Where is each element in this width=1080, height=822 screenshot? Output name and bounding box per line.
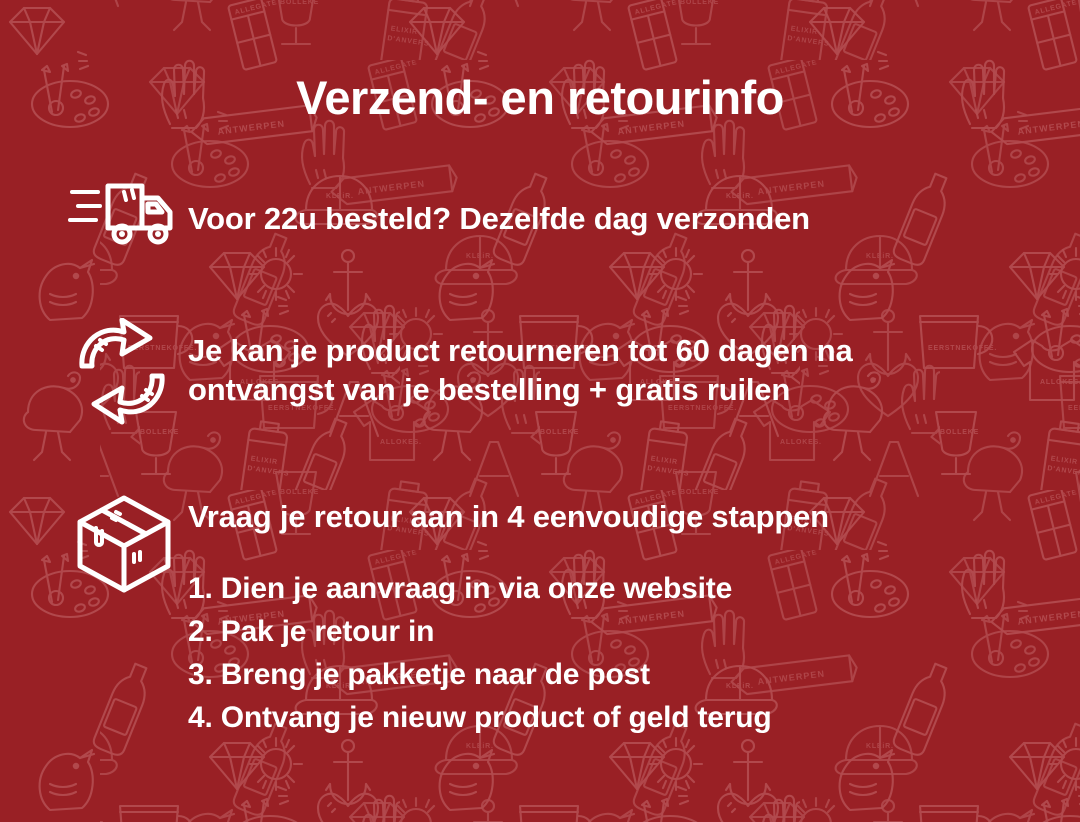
returns-info-line-2: ontvangst van je bestelling + gratis rui… xyxy=(188,371,853,410)
return-step-item: 1. Dien je aanvraag in via onze website xyxy=(188,567,829,610)
return-steps-heading: Vraag je retour aan in 4 eenvoudige stap… xyxy=(188,490,829,537)
return-step-item: 4. Ontvang je nieuw product of geld teru… xyxy=(188,696,829,739)
package-box-icon xyxy=(60,490,188,594)
shipping-returns-info-banner: ALLEGATE ANTWERPEN xyxy=(0,0,1080,822)
return-steps-text-block: Vraag je retour aan in 4 eenvoudige stap… xyxy=(188,490,829,740)
return-step-item: 2. Pak je retour in xyxy=(188,610,829,653)
return-exchange-arrows-icon xyxy=(60,318,188,428)
returns-info-row: Je kan je product retourneren tot 60 dag… xyxy=(60,318,853,428)
shipping-info-row: Voor 22u besteld? Dezelfde dag verzonden xyxy=(60,176,810,248)
shipping-info-text: Voor 22u besteld? Dezelfde dag verzonden xyxy=(188,176,810,239)
return-steps-row: Vraag je retour aan in 4 eenvoudige stap… xyxy=(60,490,829,740)
return-steps-list: 1. Dien je aanvraag in via onze website … xyxy=(188,537,829,740)
returns-info-line-1: Je kan je product retourneren tot 60 dag… xyxy=(188,318,853,371)
returns-info-text-block: Je kan je product retourneren tot 60 dag… xyxy=(188,318,853,410)
page-title: Verzend- en retourinfo xyxy=(0,72,1080,124)
delivery-truck-icon xyxy=(60,176,188,248)
return-step-item: 3. Breng je pakketje naar de post xyxy=(188,653,829,696)
